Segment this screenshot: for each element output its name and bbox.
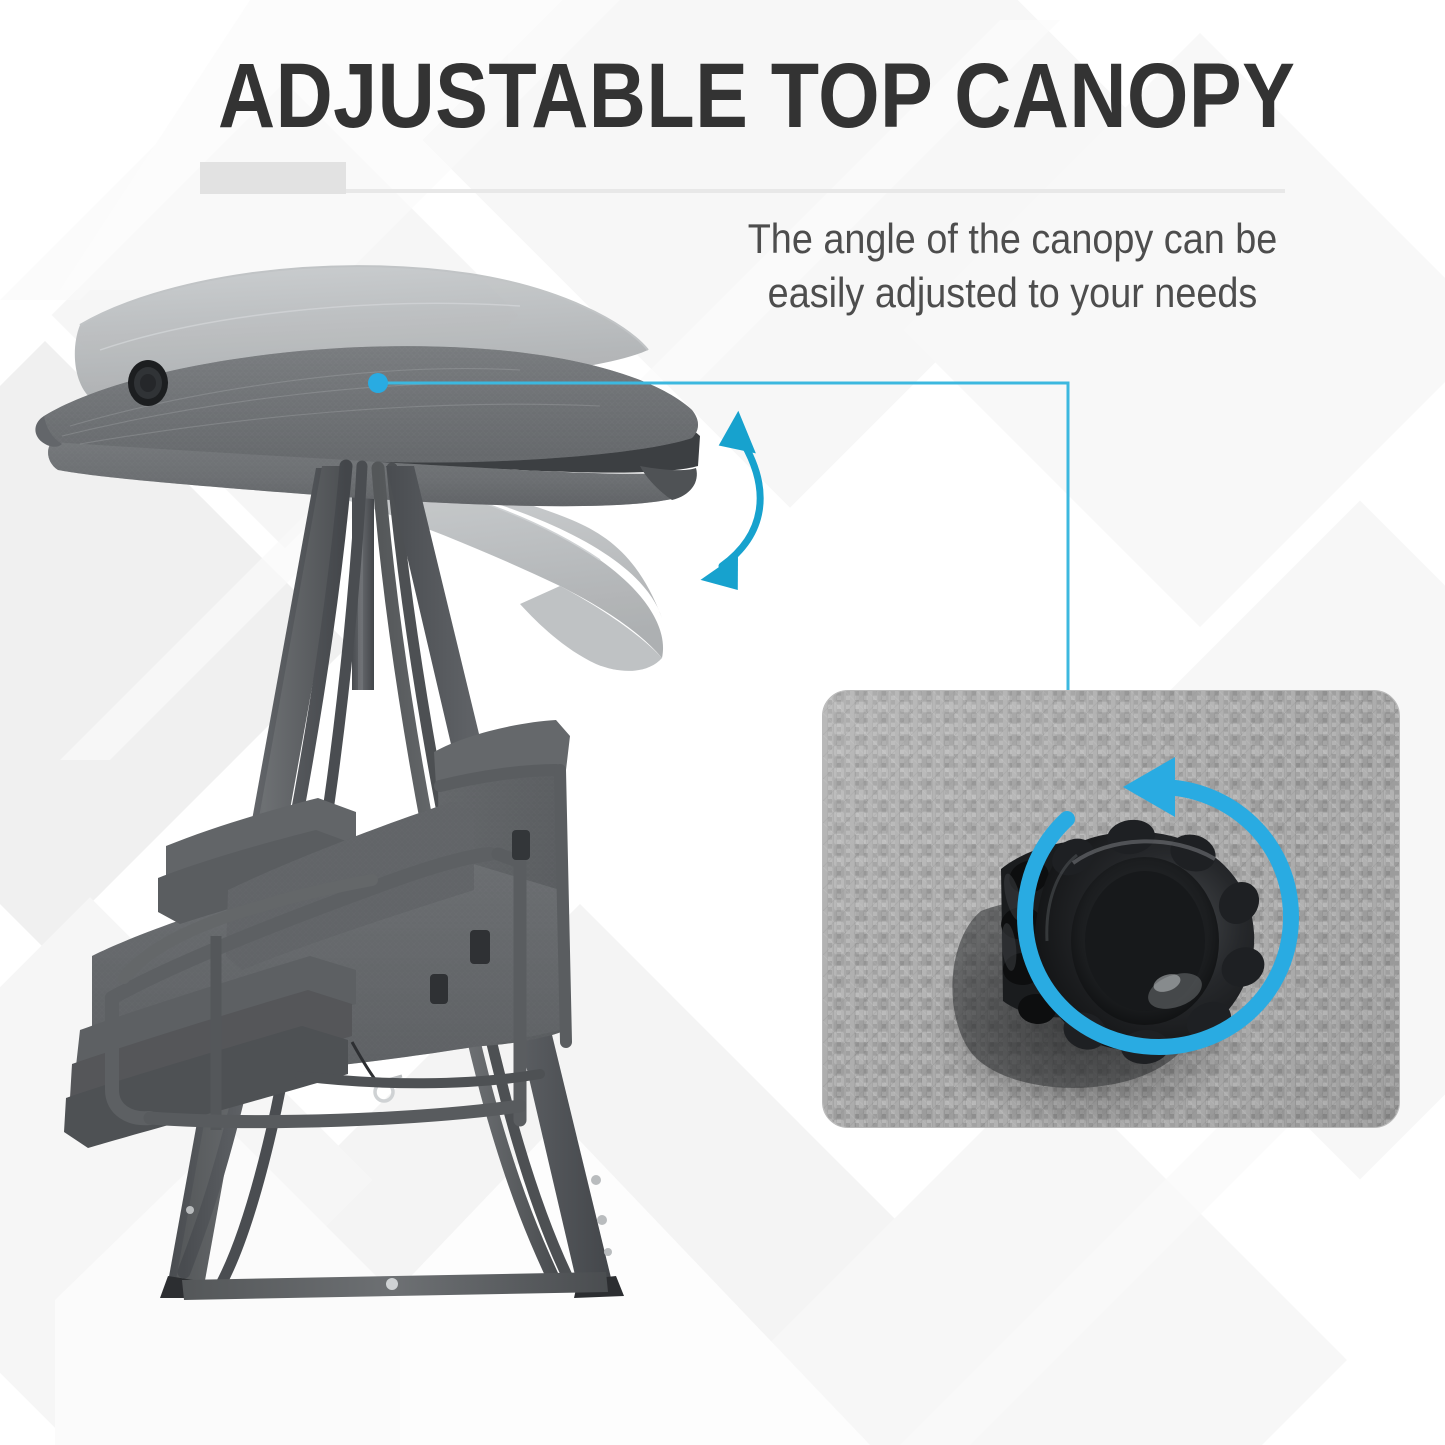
divider-line: [346, 189, 1285, 193]
inset-detail-panel: [822, 690, 1400, 1128]
swing-chair-illustration: [0, 230, 840, 1350]
swing-bench: [64, 720, 570, 1148]
page-title: ADJUSTABLE TOP CANOPY: [218, 48, 1130, 144]
divider-block: [200, 162, 346, 194]
title-divider: [200, 162, 1285, 196]
canopy-adjust-knob-icon[interactable]: [128, 360, 168, 406]
product-photo-swing-chair: [0, 230, 840, 1350]
infographic-canvas: ADJUSTABLE TOP CANOPY The angle of the c…: [0, 0, 1445, 1445]
knob-closeup-photo: [823, 691, 1400, 1128]
